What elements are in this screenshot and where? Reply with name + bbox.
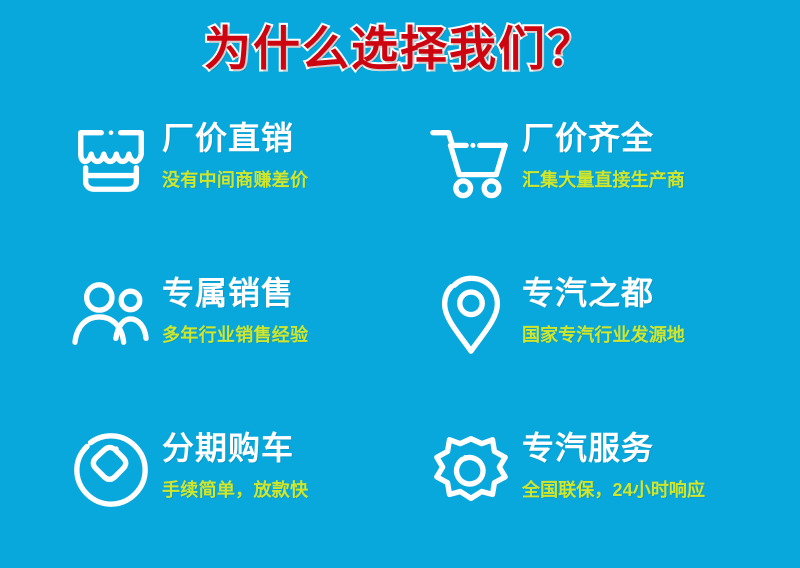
feature-item-service[interactable]: 专汽服务 全国联保，24小时响应 xyxy=(400,413,800,568)
feature-text: 厂价齐全 汇集大量直接生产商 xyxy=(514,117,800,192)
feature-item-dedicated-sales[interactable]: 专属销售 多年行业销售经验 xyxy=(0,258,400,413)
feature-title: 厂价齐全 xyxy=(522,121,800,157)
feature-item-auto-capital[interactable]: 专汽之都 国家专汽行业发源地 xyxy=(400,258,800,413)
feature-title: 专汽之都 xyxy=(522,276,800,312)
page-title: 为什么选择我们？ xyxy=(204,22,596,76)
feature-subtitle: 全国联保，24小时响应 xyxy=(522,476,800,502)
feature-text: 专汽服务 全国联保，24小时响应 xyxy=(514,427,800,502)
page-title-wrap: 为什么选择我们？ xyxy=(0,22,800,76)
feature-text: 分期购车 手续简单，放款快 xyxy=(154,427,400,502)
feature-title: 分期购车 xyxy=(162,431,400,467)
promo-banner: 为什么选择我们？ 厂价直销 没有中间商赚差价 xyxy=(0,0,800,567)
feature-subtitle: 手续简单，放款快 xyxy=(162,476,400,502)
gear-icon xyxy=(428,427,514,513)
diamond-in-circle-icon xyxy=(68,427,154,513)
shopping-cart-icon xyxy=(428,117,514,203)
map-pin-icon xyxy=(428,272,514,358)
storefront-icon xyxy=(68,117,154,203)
feature-subtitle: 汇集大量直接生产商 xyxy=(522,166,800,192)
feature-grid: 厂价直销 没有中间商赚差价 xyxy=(0,103,800,567)
feature-text: 厂价直销 没有中间商赚差价 xyxy=(154,117,400,192)
feature-item-installment[interactable]: 分期购车 手续简单，放款快 xyxy=(0,413,400,568)
feature-subtitle: 没有中间商赚差价 xyxy=(162,166,400,192)
feature-title: 专汽服务 xyxy=(522,431,800,467)
feature-item-full-range[interactable]: 厂价齐全 汇集大量直接生产商 xyxy=(400,103,800,258)
feature-text: 专汽之都 国家专汽行业发源地 xyxy=(514,272,800,347)
feature-title: 厂价直销 xyxy=(162,121,400,157)
feature-item-factory-direct[interactable]: 厂价直销 没有中间商赚差价 xyxy=(0,103,400,258)
feature-subtitle: 多年行业销售经验 xyxy=(162,321,400,347)
people-icon xyxy=(68,272,154,358)
feature-text: 专属销售 多年行业销售经验 xyxy=(154,272,400,347)
feature-subtitle: 国家专汽行业发源地 xyxy=(522,321,800,347)
feature-title: 专属销售 xyxy=(162,276,400,312)
